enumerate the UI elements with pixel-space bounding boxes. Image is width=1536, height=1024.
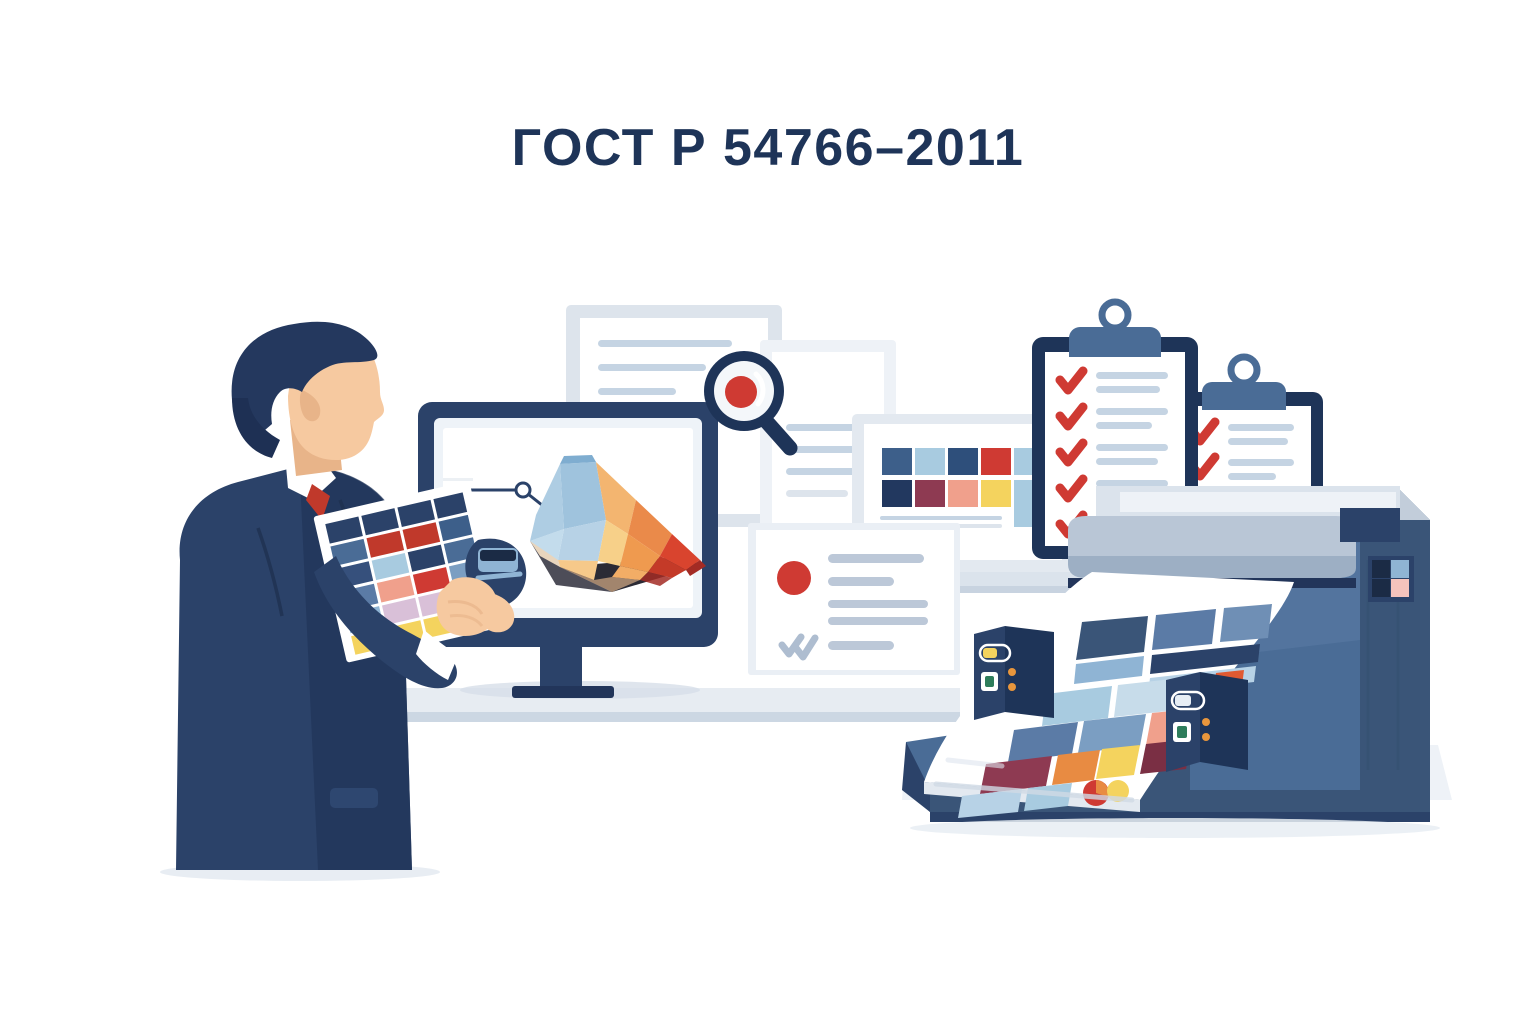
suit-pocket <box>330 788 378 808</box>
chart-point <box>516 483 530 497</box>
certificate-line <box>828 641 894 650</box>
device-indicator <box>985 676 994 687</box>
panel-square <box>1372 560 1390 578</box>
device-indicator <box>1177 726 1187 738</box>
clipboard-line <box>1096 408 1168 415</box>
panel-square <box>1372 579 1390 597</box>
device-dot <box>1008 683 1016 691</box>
doc-line <box>786 490 848 497</box>
printer-control-panel[interactable] <box>1368 556 1414 602</box>
panel-square <box>1391 560 1409 578</box>
doc-line <box>598 340 732 347</box>
illustration-canvas: ГОСТ Р 54766–2011 <box>0 0 1536 1024</box>
clipboard-line <box>1228 459 1294 466</box>
color-report-certificate <box>748 523 960 675</box>
doc-line <box>598 364 706 371</box>
doc-line <box>598 388 676 395</box>
clipboard-line <box>1096 372 1168 379</box>
colorimeter-display <box>480 550 516 561</box>
device-dot <box>1202 718 1210 726</box>
clipboard-line <box>1228 473 1276 480</box>
clipboard-line <box>1096 422 1152 429</box>
certificate-line <box>828 600 928 608</box>
spectrophotometer-left[interactable] <box>974 626 1054 720</box>
clipboard-line <box>1228 424 1294 431</box>
spectrophotometer-right[interactable] <box>1166 672 1248 772</box>
device-dot <box>1202 733 1210 741</box>
device-display <box>1175 695 1191 706</box>
clipboard-line <box>1228 438 1288 445</box>
clipboard-ring <box>1102 302 1128 328</box>
magnifier-color-spot <box>725 376 757 408</box>
clipboard-ring <box>1231 357 1257 383</box>
clipboard-line <box>1096 386 1160 393</box>
certificate-line <box>828 617 928 625</box>
screen-caption-line <box>880 516 1002 520</box>
illustration-scene <box>0 0 1536 1024</box>
clipboard-line <box>1096 444 1168 451</box>
certificate-line <box>828 554 924 563</box>
certificate-line <box>828 577 894 586</box>
monitor-stand-neck <box>540 640 582 692</box>
desk-surface <box>400 681 960 722</box>
clipboard-line <box>1096 458 1158 465</box>
device-dot <box>1008 668 1016 676</box>
clipboard-line <box>1096 480 1168 487</box>
panel-square <box>1391 579 1409 597</box>
device-display <box>983 648 997 658</box>
certificate-seal <box>777 561 811 595</box>
monitor-stand-base <box>512 686 614 698</box>
